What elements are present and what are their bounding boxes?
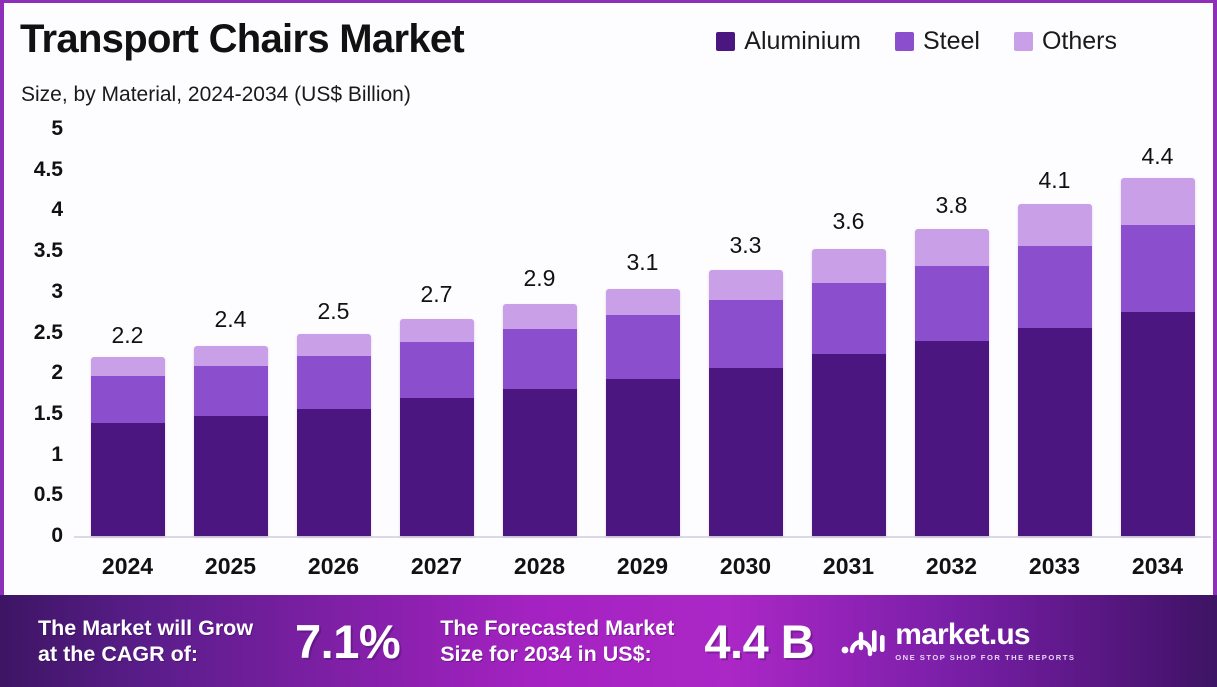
market-us-logo: market.us ONE STOP SHOP FOR THE REPORTS (840, 620, 1075, 662)
bar-segment-aluminium[interactable] (400, 398, 474, 536)
bar-total-label: 3.1 (591, 249, 694, 276)
bar-total-label: 2.4 (179, 306, 282, 333)
cagr-label-line2: at the CAGR of: (38, 642, 198, 666)
y-axis-tick-label: 3.5 (34, 239, 63, 263)
cagr-value: 7.1% (295, 614, 400, 669)
bar-total-label: 2.7 (385, 281, 488, 308)
bar-total-label: 2.2 (76, 322, 179, 349)
bar-segment-others[interactable] (606, 289, 680, 316)
y-axis-tick-label: 3 (51, 280, 63, 304)
bar-segment-steel[interactable] (194, 366, 268, 416)
y-axis-tick-label: 0 (51, 524, 63, 548)
bar-segment-aluminium[interactable] (503, 389, 577, 536)
bar-stack[interactable] (812, 243, 886, 536)
bar-group-2026[interactable]: 2.5 (282, 3, 385, 595)
bar-segment-steel[interactable] (1018, 246, 1092, 327)
bar-group-2034[interactable]: 4.4 (1106, 3, 1209, 595)
bar-stack[interactable] (915, 227, 989, 536)
bar-group-2031[interactable]: 3.6 (797, 3, 900, 595)
y-axis-tick-label: 4.5 (34, 158, 63, 182)
bar-group-2033[interactable]: 4.1 (1003, 3, 1106, 595)
bar-segment-steel[interactable] (503, 329, 577, 389)
bar-series-group: 2.22.42.52.72.93.13.33.63.84.14.4 (76, 3, 1209, 595)
y-axis-tick-label: 2 (51, 361, 63, 385)
bar-group-2029[interactable]: 3.1 (591, 3, 694, 595)
bar-segment-aluminium[interactable] (297, 409, 371, 536)
y-axis-tick-label: 0.5 (34, 483, 63, 507)
cagr-label: The Market will Grow at the CAGR of: (38, 615, 253, 667)
bar-segment-aluminium[interactable] (709, 368, 783, 536)
bar-segment-steel[interactable] (400, 342, 474, 398)
bar-segment-others[interactable] (194, 346, 268, 366)
bar-group-2032[interactable]: 3.8 (900, 3, 1003, 595)
y-axis-tick-label: 1.5 (34, 402, 63, 426)
logo-tagline: ONE STOP SHOP FOR THE REPORTS (895, 654, 1075, 662)
footer-banner: The Market will Grow at the CAGR of: 7.1… (0, 595, 1217, 687)
x-axis-tick-label: 2024 (76, 553, 179, 580)
bar-stack[interactable] (606, 284, 680, 536)
bar-total-label: 4.4 (1106, 143, 1209, 170)
bar-stack[interactable] (1121, 178, 1195, 536)
bar-total-label: 3.6 (797, 208, 900, 235)
bar-segment-steel[interactable] (1121, 225, 1195, 312)
bar-stack[interactable] (297, 333, 371, 537)
x-axis-tick-label: 2033 (1003, 553, 1106, 580)
forecast-label-line2: Size for 2034 in US$: (440, 642, 652, 666)
bar-total-label: 4.1 (1003, 167, 1106, 194)
bar-segment-others[interactable] (91, 357, 165, 377)
bar-group-2028[interactable]: 2.9 (488, 3, 591, 595)
bar-segment-steel[interactable] (915, 266, 989, 341)
bar-segment-others[interactable] (1121, 178, 1195, 225)
x-axis-tick-label: 2025 (179, 553, 282, 580)
bar-segment-others[interactable] (915, 229, 989, 266)
cagr-label-line1: The Market will Grow (38, 616, 253, 640)
x-axis-tick-label: 2029 (591, 553, 694, 580)
logo-name: market.us (895, 620, 1075, 650)
bar-group-2030[interactable]: 3.3 (694, 3, 797, 595)
bar-segment-others[interactable] (503, 304, 577, 329)
bar-segment-others[interactable] (297, 334, 371, 356)
bar-segment-steel[interactable] (812, 283, 886, 354)
bar-group-2024[interactable]: 2.2 (76, 3, 179, 595)
bar-segment-others[interactable] (812, 249, 886, 283)
bar-segment-others[interactable] (400, 319, 474, 343)
bar-stack[interactable] (400, 316, 474, 536)
forecast-label: The Forecasted Market Size for 2034 in U… (440, 615, 674, 667)
bar-group-2027[interactable]: 2.7 (385, 3, 488, 595)
bar-total-label: 3.8 (900, 192, 1003, 219)
bar-stack[interactable] (503, 300, 577, 536)
bar-segment-steel[interactable] (297, 356, 371, 409)
bar-stack[interactable] (709, 267, 783, 536)
bar-segment-aluminium[interactable] (1018, 328, 1092, 536)
logo-mark-icon (840, 624, 886, 658)
x-axis-tick-label: 2028 (488, 553, 591, 580)
x-axis-tick-label: 2027 (385, 553, 488, 580)
y-axis-tick-label: 2.5 (34, 321, 63, 345)
bar-segment-aluminium[interactable] (1121, 312, 1195, 536)
x-axis-tick-label: 2026 (282, 553, 385, 580)
bar-segment-aluminium[interactable] (812, 354, 886, 536)
bar-segment-others[interactable] (709, 270, 783, 300)
bar-total-label: 2.9 (488, 265, 591, 292)
bar-stack[interactable] (1018, 202, 1092, 536)
bar-segment-steel[interactable] (709, 300, 783, 368)
y-axis-tick-label: 5 (51, 117, 63, 141)
bar-segment-others[interactable] (1018, 204, 1092, 246)
x-axis-tick-label: 2030 (694, 553, 797, 580)
y-axis-tick-label: 1 (51, 443, 63, 467)
chart-plot-area: 54.543.532.521.510.50 2.22.42.52.72.93.1… (4, 3, 1217, 595)
bar-stack[interactable] (91, 357, 165, 536)
bar-segment-aluminium[interactable] (606, 379, 680, 536)
forecast-value: 4.4 B (704, 614, 814, 669)
bar-total-label: 2.5 (282, 298, 385, 325)
y-axis: 54.543.532.521.510.50 (4, 3, 72, 595)
bar-segment-steel[interactable] (91, 376, 165, 422)
bar-segment-aluminium[interactable] (915, 341, 989, 536)
x-axis-tick-label: 2032 (900, 553, 1003, 580)
bar-segment-steel[interactable] (606, 315, 680, 378)
x-axis-tick-label: 2034 (1106, 553, 1209, 580)
bar-segment-aluminium[interactable] (91, 423, 165, 536)
x-axis-tick-label: 2031 (797, 553, 900, 580)
x-axis: 2024202520262027202820292030203120322033… (76, 553, 1209, 580)
bar-group-2025[interactable]: 2.4 (179, 3, 282, 595)
bar-segment-aluminium[interactable] (194, 416, 268, 536)
bar-stack[interactable] (194, 341, 268, 536)
bar-total-label: 3.3 (694, 232, 797, 259)
y-axis-tick-label: 4 (51, 198, 63, 222)
forecast-label-line1: The Forecasted Market (440, 616, 674, 640)
chart-infographic: Transport Chairs Market Size, by Materia… (0, 0, 1217, 687)
